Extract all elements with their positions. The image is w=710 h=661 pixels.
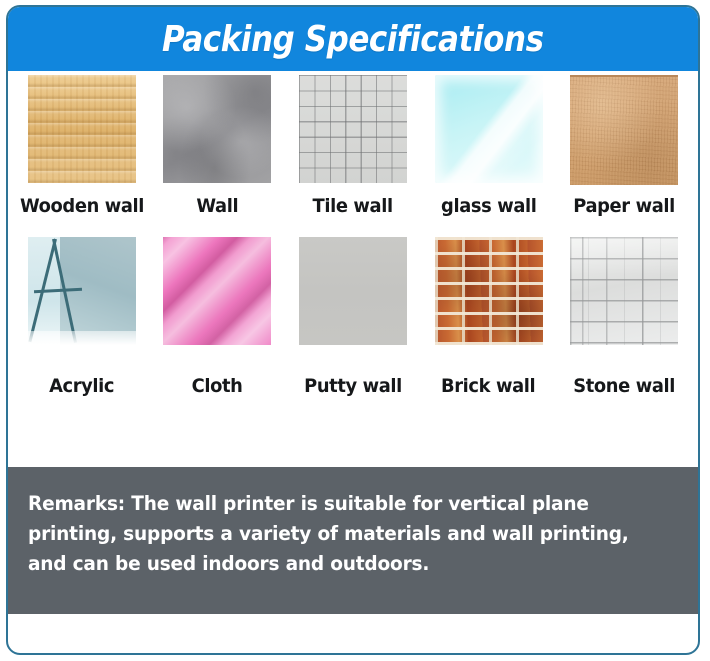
material-item-paper-wall[interactable]: Paper wall	[556, 75, 692, 217]
material-label: Wooden wall	[20, 195, 144, 217]
material-label: Paper wall	[573, 195, 675, 217]
concrete-wall-texture-swatch	[163, 75, 271, 183]
material-item-brick-wall[interactable]: Brick wall	[421, 237, 557, 397]
material-item-cloth[interactable]: Cloth	[150, 237, 286, 397]
material-item-putty-wall[interactable]: Putty wall	[285, 237, 421, 397]
material-label: Stone wall	[573, 375, 675, 397]
swatch-wrap	[556, 237, 692, 353]
material-label: Tile wall	[313, 195, 393, 217]
material-label: Putty wall	[304, 375, 402, 397]
material-label: Brick wall	[441, 375, 535, 397]
packing-specifications-card: Packing Specifications Wooden wall Wall	[6, 5, 700, 655]
brick-texture-swatch	[435, 237, 543, 345]
material-item-wooden-wall[interactable]: Wooden wall	[14, 75, 150, 217]
remarks-text: Remarks: The wall printer is suitable fo…	[28, 489, 646, 579]
header-banner: Packing Specifications	[8, 7, 698, 71]
material-label: Wall	[196, 195, 238, 217]
material-label: glass wall	[441, 195, 536, 217]
material-item-wall[interactable]: Wall	[150, 75, 286, 217]
kraft-paper-texture-swatch	[570, 75, 678, 185]
swatch-wrap	[150, 237, 286, 353]
material-item-acrylic[interactable]: Acrylic	[14, 237, 150, 397]
swatch-wrap	[14, 75, 150, 191]
pink-cloth-texture-swatch	[163, 237, 271, 345]
glass-panel-texture-swatch	[435, 75, 543, 183]
materials-grid: Wooden wall Wall Tile wall glass wall	[8, 75, 698, 402]
material-item-tile-wall[interactable]: Tile wall	[285, 75, 421, 217]
material-label: Acrylic	[49, 375, 114, 397]
remarks-panel: Remarks: The wall printer is suitable fo…	[8, 467, 698, 614]
swatch-wrap	[150, 75, 286, 191]
wood-texture-swatch	[28, 75, 136, 183]
material-item-stone-wall[interactable]: Stone wall	[556, 237, 692, 397]
page-title: Packing Specifications	[162, 19, 544, 60]
swatch-wrap	[556, 75, 692, 191]
putty-flat-texture-swatch	[299, 237, 407, 345]
material-label: Cloth	[192, 375, 243, 397]
swatch-wrap	[285, 75, 421, 191]
stone-texture-swatch	[570, 237, 678, 345]
tile-grid-texture-swatch	[299, 75, 407, 183]
swatch-wrap	[421, 75, 557, 191]
acrylic-base-shadow	[28, 331, 136, 345]
materials-row-2: Acrylic Cloth Putty wall Brick wall	[14, 237, 692, 402]
swatch-wrap	[285, 237, 421, 353]
swatch-wrap	[421, 237, 557, 353]
acrylic-sheet-texture-swatch	[28, 237, 136, 345]
materials-row-1: Wooden wall Wall Tile wall glass wall	[14, 75, 692, 237]
material-item-glass-wall[interactable]: glass wall	[421, 75, 557, 217]
swatch-wrap	[14, 237, 150, 353]
